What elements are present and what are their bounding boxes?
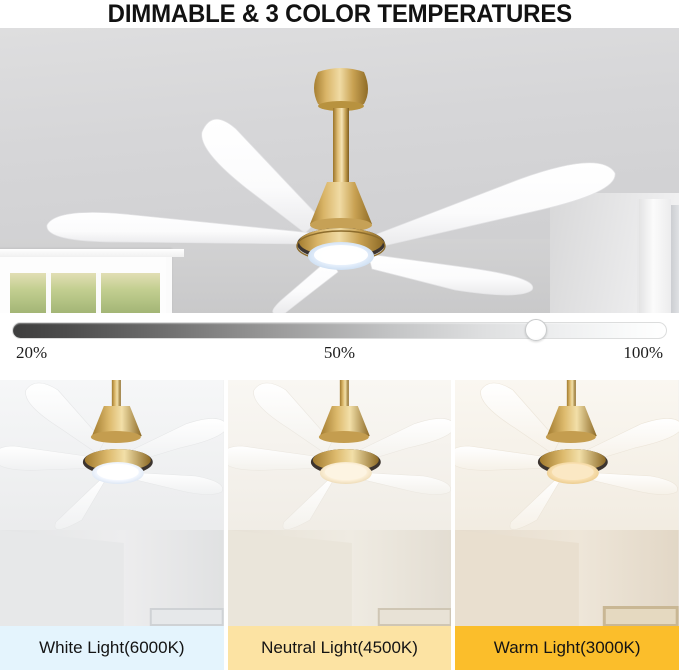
page-title: DIMMABLE & 3 COLOR TEMPERATURES (107, 0, 571, 29)
caption-neutral-light: Neutral Light(4500K) (228, 626, 452, 670)
slider-label-min: 20% (16, 343, 47, 363)
caption-white-light: White Light(6000K) (0, 626, 224, 670)
slider-track[interactable] (12, 322, 667, 339)
slider-label-mid: 50% (324, 343, 355, 363)
slider-scale-labels: 20% 50% 100% (0, 343, 679, 369)
slider-label-max: 100% (623, 343, 663, 363)
page-title-bar: DIMMABLE & 3 COLOR TEMPERATURES (0, 0, 679, 28)
hero-product-photo (0, 28, 679, 313)
color-temperature-panels: White Light(6000K) (0, 380, 679, 670)
slider-thumb[interactable] (525, 319, 547, 341)
product-infographic: DIMMABLE & 3 COLOR TEMPERATURES (0, 0, 679, 665)
panel-photo-neutral (228, 380, 452, 626)
panel-photo-warm (455, 380, 679, 626)
caption-warm-light: Warm Light(3000K) (455, 626, 679, 670)
panel-photo-white (0, 380, 224, 626)
ceiling-fan-neutral-light-illustration (228, 380, 452, 626)
ceiling-fan-warm-light-illustration (455, 380, 679, 626)
ceiling-fan-white-light-illustration (0, 380, 224, 626)
panel-warm-light[interactable]: Warm Light(3000K) (455, 380, 679, 670)
ceiling-fan-illustration (0, 28, 679, 313)
brightness-slider[interactable]: 20% 50% 100% (0, 313, 679, 380)
panel-neutral-light[interactable]: Neutral Light(4500K) (228, 380, 452, 670)
panel-white-light[interactable]: White Light(6000K) (0, 380, 224, 670)
